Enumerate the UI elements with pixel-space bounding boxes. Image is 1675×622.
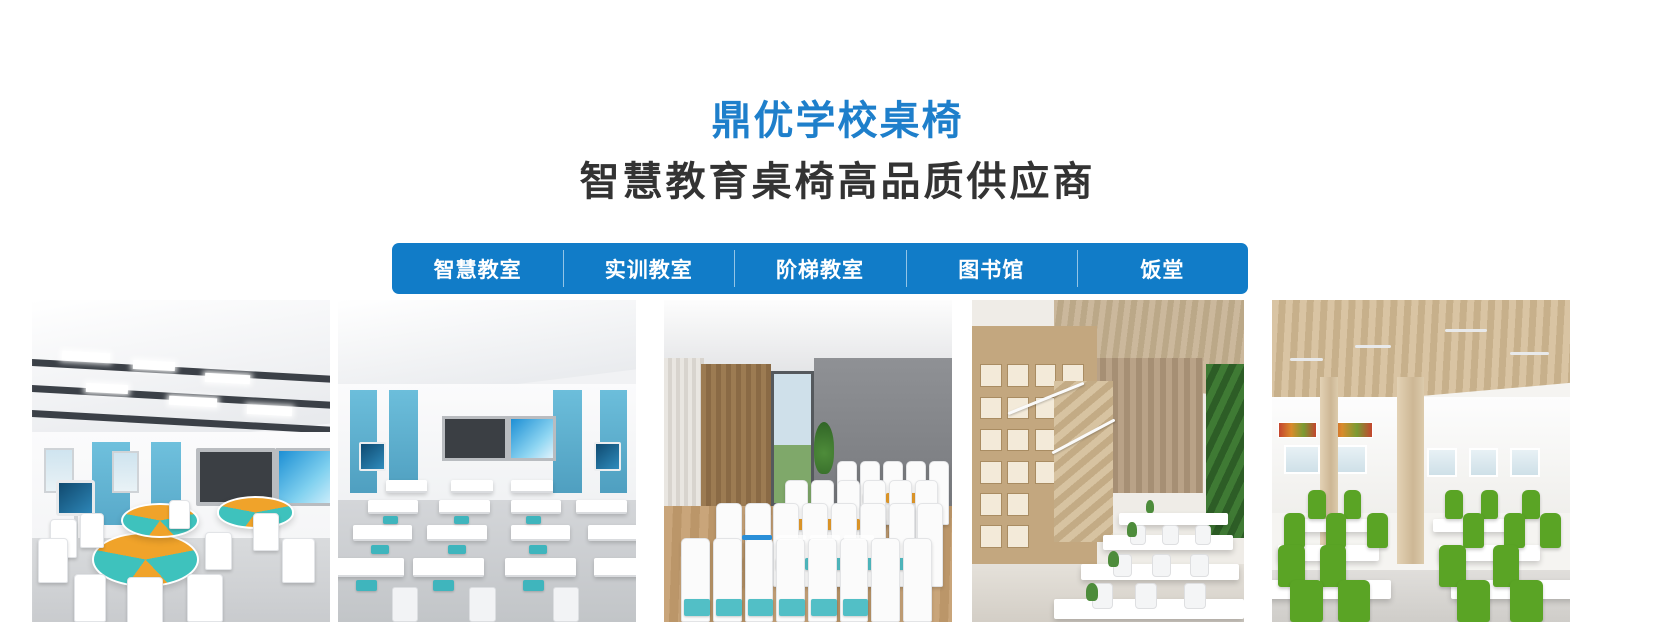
lecture-hall-scene bbox=[664, 300, 952, 622]
category-tabs: 智慧教室 实训教室 阶梯教室 图书馆 饭堂 bbox=[392, 243, 1248, 294]
gallery-image-training-classroom[interactable] bbox=[338, 300, 636, 622]
scene-gallery bbox=[0, 300, 1675, 622]
tab-label: 实训教室 bbox=[605, 254, 693, 284]
smart-classroom-scene bbox=[32, 300, 330, 622]
tab-label: 图书馆 bbox=[958, 254, 1024, 284]
canteen-scene bbox=[1272, 300, 1570, 622]
tab-library[interactable]: 图书馆 bbox=[906, 243, 1077, 294]
carousel-dot-4[interactable] bbox=[844, 535, 874, 540]
tab-label: 饭堂 bbox=[1140, 254, 1184, 284]
brand-title: 鼎优学校桌椅 bbox=[0, 98, 1675, 144]
training-classroom-scene bbox=[338, 300, 636, 622]
gallery-image-lecture-hall[interactable] bbox=[664, 300, 952, 622]
carousel-dot-2[interactable] bbox=[776, 535, 806, 540]
tab-canteen[interactable]: 饭堂 bbox=[1077, 243, 1248, 294]
tab-training-classroom[interactable]: 实训教室 bbox=[563, 243, 734, 294]
carousel-indicator bbox=[742, 535, 874, 540]
tab-lecture-hall[interactable]: 阶梯教室 bbox=[734, 243, 905, 294]
library-scene bbox=[972, 300, 1244, 622]
carousel-dot-3[interactable] bbox=[810, 535, 840, 540]
gallery-image-smart-classroom[interactable] bbox=[32, 300, 330, 622]
tab-label: 阶梯教室 bbox=[776, 254, 864, 284]
tab-smart-classroom[interactable]: 智慧教室 bbox=[392, 243, 563, 294]
page-subtitle: 智慧教育桌椅高品质供应商 bbox=[0, 157, 1675, 207]
carousel-dot-1[interactable] bbox=[742, 535, 772, 540]
promo-banner: 鼎优学校桌椅 智慧教育桌椅高品质供应商 智慧教室 实训教室 阶梯教室 图书馆 饭… bbox=[0, 0, 1675, 622]
tab-label: 智慧教室 bbox=[434, 254, 522, 284]
gallery-image-canteen[interactable] bbox=[1272, 300, 1570, 622]
gallery-image-library[interactable] bbox=[972, 300, 1244, 622]
